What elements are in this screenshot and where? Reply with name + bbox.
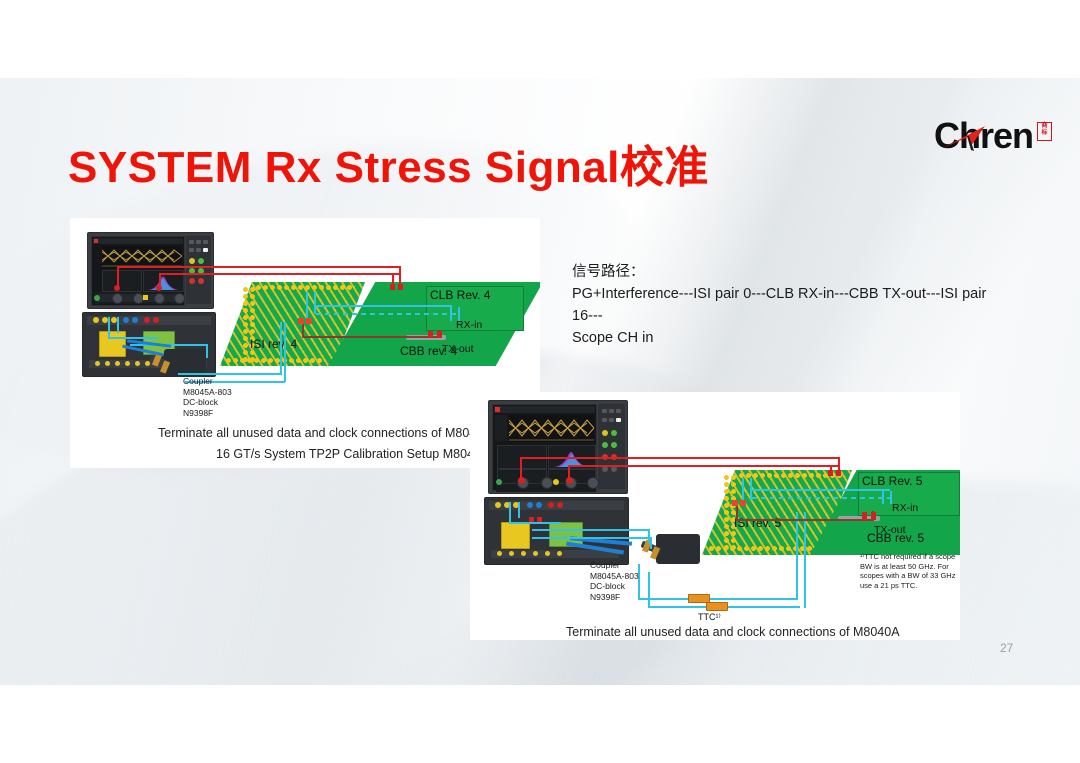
isi-board-pad-row <box>225 357 325 364</box>
diagram-panel-rev5: ISI rev. 5 CBB rev. 5 CLB Rev. 5 RX-in T… <box>470 392 960 640</box>
signal-path-line-1: PG+Interference---ISI pair 0---CLB RX-in… <box>572 283 1002 327</box>
isi-board-pad-row <box>255 284 355 291</box>
signal-path-heading: 信号路径： <box>572 261 1002 283</box>
tx-out-label-rev5: TX-out <box>874 524 906 536</box>
slide-canvas: SYSTEM Rx Stress Signal校准 Chren 商标 信号路径：… <box>0 0 1080 763</box>
setup-diagram-rev5: ISI rev. 5 CBB rev. 5 CLB Rev. 5 RX-in T… <box>470 392 960 640</box>
rx-in-label-rev5: RX-in <box>892 502 918 514</box>
clb-board-label-rev5: CLB Rev. 5 <box>862 474 922 488</box>
eye-diagram-plot <box>509 415 594 442</box>
coupler-dc-block-assembly <box>656 534 700 564</box>
oscilloscope-body <box>87 232 214 309</box>
oscilloscope-body <box>488 400 628 494</box>
scope-knob[interactable] <box>154 293 165 304</box>
ttc-footnote: ¹⁾TTC not required if a scope BW is at l… <box>860 552 960 590</box>
clb-board-label-rev4: CLB Rev. 4 <box>430 288 490 302</box>
red-swoosh-arrow-icon <box>941 124 987 152</box>
scope-knob[interactable] <box>174 293 185 304</box>
m8040a-module-slot <box>501 522 530 549</box>
caption-setup-rev4: 16 GT/s System TP2P Calibration Setup M8… <box>216 447 489 461</box>
signal-path-line-2: Scope CH in <box>572 327 1002 349</box>
scope-knob[interactable] <box>112 293 123 304</box>
eye-diagram-plot <box>102 246 182 268</box>
page-number: 27 <box>1000 641 1013 655</box>
scope-knob[interactable] <box>587 477 599 489</box>
brand-logo: Chren 商标 <box>934 118 1052 154</box>
coupler-callout-rev4: Coupler M8045A-803 DC-block N9398F <box>183 376 232 418</box>
coupler-callout-rev5: Coupler M8045A-803 DC-block N9398F <box>590 560 639 602</box>
m8040a-chassis <box>484 497 629 565</box>
page-title: SYSTEM Rx Stress Signal校准 <box>68 131 709 195</box>
logo-seal-icon: 商标 <box>1037 122 1052 141</box>
ttc-label: TTC¹⁾ <box>698 612 721 623</box>
scope-knob[interactable] <box>541 477 553 489</box>
ttc-component <box>706 602 728 611</box>
signal-path-note: 信号路径： PG+Interference---ISI pair 0---CLB… <box>572 261 1002 349</box>
caption-terminate-rev4: Terminate all unused data and clock conn… <box>158 426 492 440</box>
tx-out-label-rev4: TX-out <box>442 343 474 355</box>
caption-terminate-rev5: Terminate all unused data and clock conn… <box>566 625 900 639</box>
isi-board-pad-col <box>723 474 737 550</box>
isi-board-label-rev4: ISI rev. 4 <box>250 337 297 351</box>
scope-keypad <box>598 404 625 489</box>
scope-keypad <box>186 236 211 304</box>
